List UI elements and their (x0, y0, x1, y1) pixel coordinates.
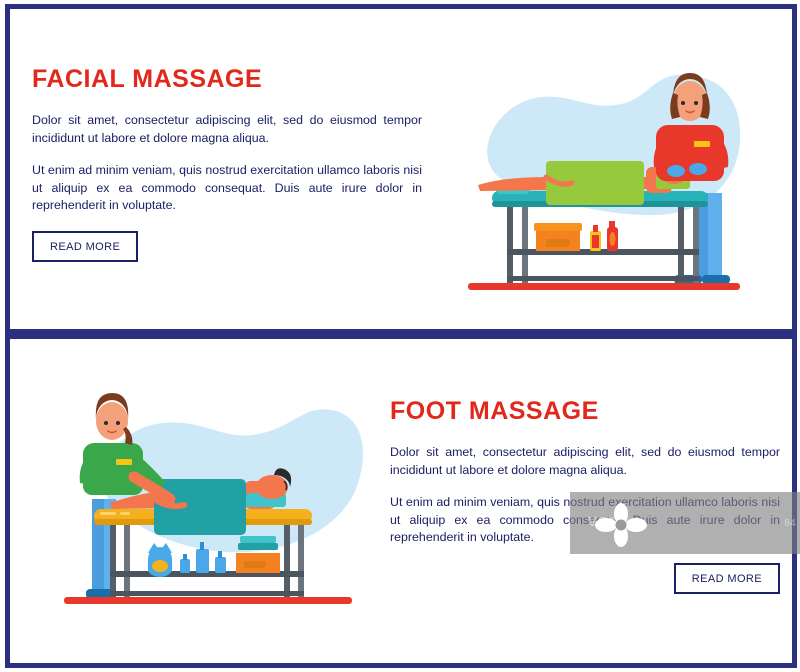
table-leg-2 (522, 203, 528, 283)
foot-paragraph-1: Dolor sit amet, consectetur adipiscing e… (390, 444, 780, 479)
supply-box-handle (546, 239, 570, 247)
facial-massage-illustration (450, 53, 790, 303)
facial-paragraph-2: Ut enim ad minim veniam, quis nostrud ex… (32, 162, 422, 215)
panel-foot-massage: FOOT MASSAGE Dolor sit amet, consectetur… (5, 334, 797, 668)
therapist-eye-left (104, 421, 108, 425)
table-highlight-2 (120, 512, 130, 515)
foot-button-row: READ MORE (390, 547, 780, 594)
lotion-bottle-1 (180, 559, 190, 573)
lotion-bottle-1-cap (183, 554, 187, 560)
table-leg-1 (110, 523, 116, 597)
oil-bottle-2-label (610, 232, 616, 246)
table-leg-3 (284, 523, 290, 597)
client-head (256, 475, 288, 499)
table-leg-1 (507, 203, 513, 283)
page-title-foot: FOOT MASSAGE (390, 399, 780, 424)
floor-line (468, 283, 740, 290)
page-title-facial: FACIAL MASSAGE (32, 67, 422, 92)
panel-facial-massage: FACIAL MASSAGE Dolor sit amet, consectet… (5, 4, 797, 334)
therapist-eye-right (116, 421, 120, 425)
facial-paragraph-1: Dolor sit amet, consectetur adipiscing e… (32, 112, 422, 147)
table-leg-4 (693, 203, 699, 283)
foot-paragraph-2: Ut enim ad minim veniam, quis nostrud ex… (390, 494, 780, 547)
table-leg-4 (298, 523, 304, 597)
lotion-bottle-2 (196, 549, 209, 573)
table-leg-3 (678, 203, 684, 283)
therapist-head (96, 402, 128, 440)
table-cross-bar (110, 591, 304, 596)
read-more-button-facial[interactable]: READ MORE (32, 231, 138, 262)
lotion-bottle-3 (215, 557, 226, 573)
therapist-shirt (83, 443, 143, 495)
lotion-bottle-3-cap (218, 551, 222, 558)
oil-bottle-1-label (592, 235, 599, 248)
therapist-eye-right (694, 101, 698, 105)
therapist-hand-left (667, 165, 685, 177)
therapist-hand-right (689, 163, 707, 175)
supply-box-lid (534, 223, 582, 231)
foot-massage-illustration (48, 381, 388, 626)
therapist-shoe-right (702, 275, 730, 284)
folded-towel-1 (238, 543, 278, 550)
poster-page: FACIAL MASSAGE Dolor sit amet, consectet… (0, 0, 800, 672)
table-leg-2 (124, 523, 130, 597)
therapist-eye-left (681, 101, 685, 105)
oil-bottle-1-cap (593, 225, 598, 232)
supply-box-handle (244, 561, 266, 568)
facial-text-column: FACIAL MASSAGE Dolor sit amet, consectet… (32, 67, 422, 262)
table-cross-bar (507, 276, 699, 281)
lotion-bottle-2-cap (200, 542, 204, 550)
therapist-shirt (656, 125, 724, 181)
foot-text-column: FOOT MASSAGE Dolor sit amet, consectetur… (390, 399, 780, 594)
therapist-name-badge (694, 141, 710, 147)
table-highlight-1 (100, 512, 116, 515)
oil-bottle-2-cap (609, 221, 615, 228)
table-shelf (507, 249, 699, 255)
therapist-name-badge (116, 459, 132, 465)
floor-line (64, 597, 352, 604)
folded-towel-2 (240, 536, 276, 543)
pouch-label (152, 560, 168, 572)
read-more-button-foot[interactable]: READ MORE (674, 563, 780, 594)
therapist-leg-2 (708, 193, 722, 281)
